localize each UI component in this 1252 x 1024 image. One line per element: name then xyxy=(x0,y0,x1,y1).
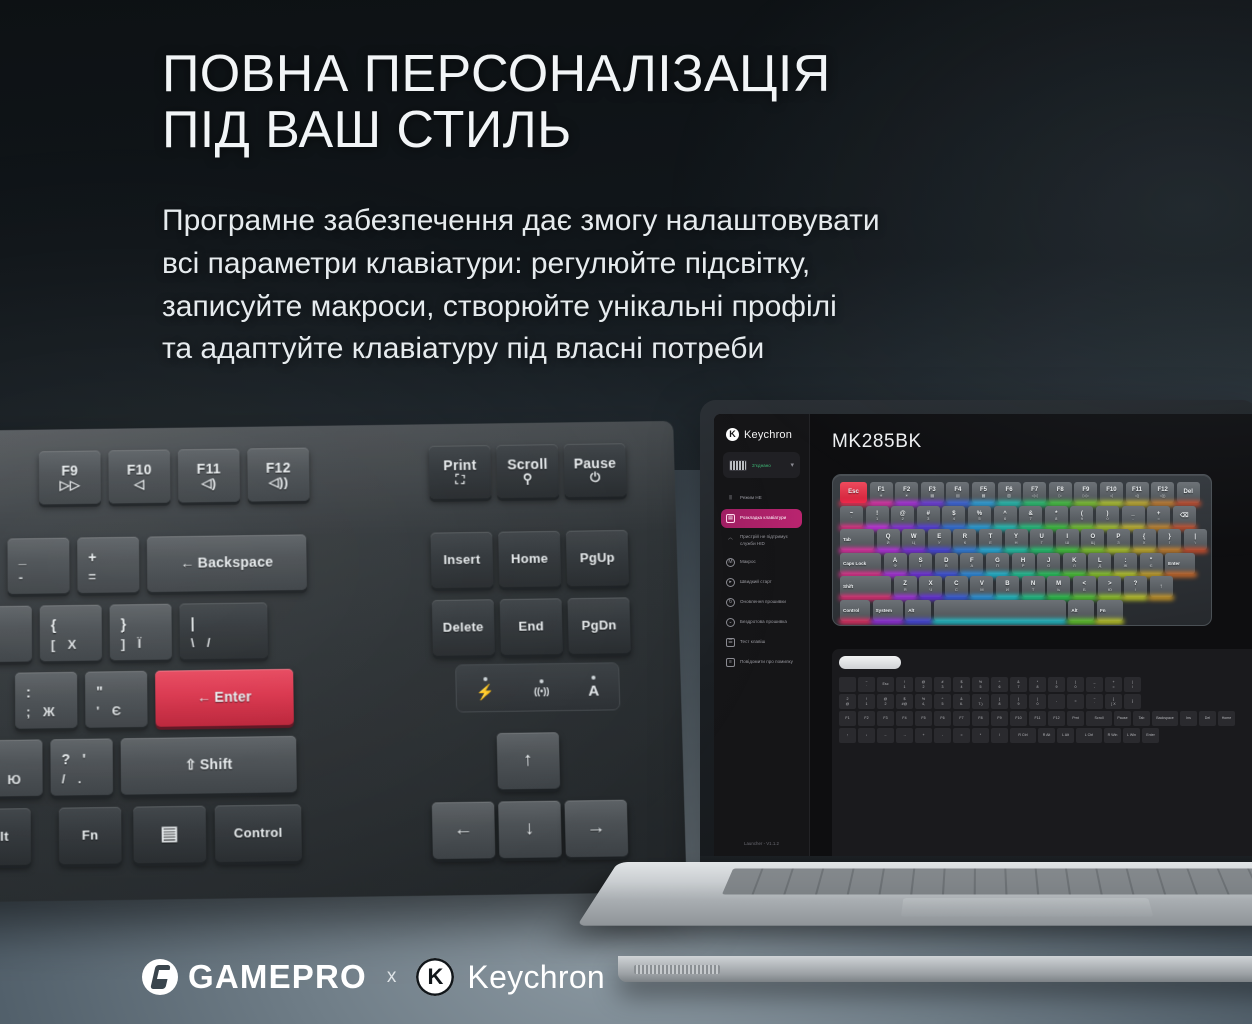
remap-key-label: L Ctrl xyxy=(1085,733,1093,737)
preview-key[interactable]: VМ xyxy=(970,576,993,597)
remap-key[interactable]: * xyxy=(972,728,989,743)
preview-key[interactable]: QЙ xyxy=(877,529,900,550)
remap-key-label: 0 xyxy=(1075,685,1077,689)
preview-key[interactable]: F5▩ xyxy=(972,482,995,503)
sidebar-item-label: Оновлення прошивки xyxy=(740,599,786,606)
remap-key-label: F3 xyxy=(883,716,887,720)
sidebar-item-label: Швидкий старт xyxy=(740,579,772,586)
remap-key-label: L Win xyxy=(1127,733,1136,737)
key-test-icon: ☰ xyxy=(726,638,735,647)
key-cyrillic-label: Ї xyxy=(137,637,141,652)
remap-key-label: Enter xyxy=(1146,733,1155,737)
remap-key[interactable]: L Win xyxy=(1123,728,1140,743)
firmware-update-icon: ↻ xyxy=(726,598,735,607)
remap-key[interactable]: - xyxy=(934,728,951,743)
preview-key[interactable]: XЧ xyxy=(919,576,942,597)
preview-key-sublabel: ▷ xyxy=(1059,494,1062,498)
remap-key[interactable]: ^5 xyxy=(934,694,951,709)
preview-key[interactable]: ?/ xyxy=(1124,576,1147,597)
preview-key[interactable]: NТ xyxy=(1022,576,1045,597)
remap-key-label: → xyxy=(903,733,907,737)
preview-key-sublabel: = xyxy=(1157,517,1159,521)
arrow-up-icon: ↑ xyxy=(523,750,533,772)
preview-key-sublabel: У xyxy=(938,541,941,545)
preview-key-sublabel: ▷▷ xyxy=(1083,494,1089,498)
sidebar-item-macro[interactable]: M Макрос xyxy=(721,553,802,572)
preview-key[interactable]: RК xyxy=(953,529,976,550)
remap-key[interactable]: Backspace xyxy=(1152,711,1178,726)
remap-key[interactable]: )9 xyxy=(1010,694,1027,709)
remap-key[interactable]: - xyxy=(1048,694,1065,709)
key-cyrillic-label: Х xyxy=(67,638,76,653)
gamepro-label: GAMEPRO xyxy=(188,958,367,996)
remap-key[interactable]: ^6 xyxy=(991,677,1008,692)
key-arrow-down: ↓ xyxy=(498,801,562,859)
remap-key[interactable]: F8 xyxy=(972,711,989,726)
remap-key-label: 4, xyxy=(922,702,925,706)
preview-key-sublabel: / xyxy=(1135,588,1136,592)
preview-key[interactable]: SІ xyxy=(909,553,932,574)
preview-key-sublabel: Щ xyxy=(1091,541,1095,545)
preview-key[interactable]: &7 xyxy=(1019,506,1042,527)
preview-key[interactable]: |\ xyxy=(1184,529,1207,550)
preview-key[interactable]: Alt xyxy=(1068,600,1094,621)
preview-key[interactable]: }Ї xyxy=(1158,529,1181,550)
app-brand: K Keychron xyxy=(714,428,809,452)
remap-key[interactable]: (9 xyxy=(1048,677,1065,692)
preview-key[interactable]: AФ xyxy=(884,553,907,574)
preview-key[interactable]: GП xyxy=(986,553,1009,574)
preview-key[interactable]: F1☀ xyxy=(870,482,893,503)
volume-down-icon: ◁) xyxy=(201,477,216,490)
preview-key-sublabel: Т xyxy=(1032,588,1034,592)
key-cyrillic-sublabel: . xyxy=(78,772,82,787)
remap-key-label: R Win xyxy=(1108,733,1118,737)
sidebar-item-keyboard-layout[interactable]: ▤ Розкладка клавіатури xyxy=(721,509,802,528)
preview-key[interactable]: F12◁)) xyxy=(1151,482,1174,503)
remap-key[interactable]: L Alt xyxy=(1057,728,1074,743)
app-sidebar: K Keychron З'єднано ▾ ⫼ Режим НЕ ▤ Розкл xyxy=(714,414,810,858)
key-period: > . Ю xyxy=(0,739,43,796)
remap-key[interactable]: %5 xyxy=(972,677,989,692)
remap-key[interactable]: Esc xyxy=(877,677,894,692)
remap-key[interactable]: ~` xyxy=(858,677,875,692)
preview-key[interactable]: F3▦ xyxy=(921,482,944,503)
remap-key[interactable]: _- xyxy=(1086,677,1103,692)
remap-key[interactable]: @2 xyxy=(915,677,932,692)
remap-key-label: Ins xyxy=(1186,716,1191,720)
preview-key[interactable]: PЗ xyxy=(1107,529,1130,550)
remap-key-label: F1 xyxy=(845,716,849,720)
preview-key[interactable]: YН xyxy=(1005,529,1028,550)
remap-key[interactable]: |0 xyxy=(1029,694,1046,709)
key-label: : xyxy=(26,686,31,702)
remap-key[interactable]: L Ctrl xyxy=(1076,728,1102,743)
preview-key[interactable]: OЩ xyxy=(1081,529,1104,550)
preview-key-label: Esc xyxy=(848,489,859,496)
remap-key-label: L Alt xyxy=(1062,733,1069,737)
preview-key[interactable]: *8 xyxy=(1045,506,1068,527)
remap-key-label: 0 xyxy=(1037,702,1039,706)
remap-key[interactable]: )0 xyxy=(1067,677,1084,692)
wireless-signal-icon: ((•)) xyxy=(534,687,549,696)
preview-key-sublabel: 2 xyxy=(902,517,904,521)
preview-key[interactable]: F2☀ xyxy=(895,482,918,503)
remap-key[interactable]: R Ctrl xyxy=(1010,728,1036,743)
preview-key[interactable]: F9▷▷ xyxy=(1074,482,1097,503)
remap-key[interactable]: / xyxy=(991,728,1008,743)
volume-up-icon: ◁)) xyxy=(269,476,289,489)
key-label: ? xyxy=(62,753,71,769)
preview-key[interactable]: :Ж xyxy=(1114,553,1137,574)
preview-key[interactable]: Del xyxy=(1177,482,1200,503)
preview-key[interactable]: F6▧ xyxy=(998,482,1021,503)
remap-row: 2@!1@2$#@%4,^5&6.*7.)(8)9|0-=~`{[ X} xyxy=(839,694,1252,709)
preview-key[interactable]: TЕ xyxy=(979,529,1002,550)
remap-key-label: @ xyxy=(846,702,850,706)
key-cyrillic-label: Ю xyxy=(7,773,21,788)
remap-key-label: = xyxy=(1074,699,1076,703)
key-label: Delete xyxy=(443,620,484,635)
laptop-lid: K Keychron З'єднано ▾ ⫼ Режим НЕ ▤ Розкл xyxy=(700,400,1252,880)
remap-key[interactable]: = xyxy=(953,728,970,743)
remap-key[interactable]: $#@ xyxy=(896,694,913,709)
preview-key[interactable]: KЛ xyxy=(1063,553,1086,574)
remap-key[interactable]: &7 xyxy=(1010,677,1027,692)
remap-key-grid: ~`Esc!1@2#3$4%5^6&7*8(9)0_-+=|\2@!1@2$#@… xyxy=(839,677,1252,743)
key-f10: F10 ◁ xyxy=(108,449,170,503)
preview-key-sublabel: ◁ xyxy=(1110,494,1113,498)
preview-key-row: ControlSystemAltAltFn xyxy=(840,600,1211,621)
remap-key[interactable]: R Win xyxy=(1104,728,1121,743)
remap-key-label: ↓ xyxy=(866,733,868,737)
preview-key[interactable]: LД xyxy=(1088,553,1111,574)
collab-separator: x xyxy=(387,966,397,988)
preview-key[interactable]: EУ xyxy=(928,529,951,550)
key-cyrillic-label: ' xyxy=(82,752,86,768)
preview-key[interactable]: Alt xyxy=(905,600,931,621)
key-label: Insert xyxy=(443,552,480,567)
preview-key[interactable]: Fn xyxy=(1097,600,1123,621)
remap-key-label: 4 xyxy=(961,685,963,689)
preview-key[interactable]: Control xyxy=(840,600,870,621)
sidebar-item-key-test[interactable]: ☰ Тест клавіш xyxy=(721,633,802,652)
remap-key-label: Home xyxy=(1222,716,1232,720)
remap-key[interactable]: $4 xyxy=(953,677,970,692)
remap-key[interactable]: F11 xyxy=(1029,711,1046,726)
remap-key[interactable]: F10 xyxy=(1010,711,1027,726)
preview-key[interactable]: FА xyxy=(960,553,983,574)
sidebar-item-hid-notice[interactable]: ◠ Пристрій не підтримує служби HID xyxy=(721,529,802,552)
remap-key-label: - xyxy=(942,733,943,737)
remap-key[interactable]: !1 xyxy=(858,694,875,709)
preview-key-sublabel: ☀ xyxy=(879,494,883,498)
keychron-label: Keychron xyxy=(467,959,605,996)
preview-key[interactable]: F8▷ xyxy=(1049,482,1072,503)
remap-key[interactable]: Prnt xyxy=(1067,711,1084,726)
remap-key[interactable]: #3 xyxy=(934,677,951,692)
media-next-icon: ▷▷ xyxy=(60,479,81,492)
remap-key[interactable]: |\ xyxy=(1124,677,1141,692)
remap-key[interactable]: F9 xyxy=(991,711,1008,726)
screenshot-icon: ⛶ xyxy=(455,473,465,486)
remap-key[interactable]: 2@ xyxy=(839,694,856,709)
remap-key[interactable]: Ins xyxy=(1180,711,1197,726)
sidebar-item-label: Повідомити про помилку xyxy=(740,659,793,666)
preview-key-label: Del xyxy=(1184,489,1193,496)
preview-key[interactable]: ⌫ xyxy=(1173,506,1196,527)
key-shift-right: ⇧ Shift xyxy=(121,736,297,795)
remap-key[interactable]: &6. xyxy=(953,694,970,709)
key-label: Print xyxy=(443,458,476,474)
key-delete: Delete xyxy=(432,599,495,656)
preview-key-label: Tab xyxy=(843,537,851,542)
key-arrow-right: → xyxy=(564,800,628,858)
preview-key-sublabel: Є xyxy=(1150,564,1153,568)
enter-arrow-icon: ← xyxy=(197,690,212,706)
key-sublabel: ] xyxy=(121,637,126,652)
preview-key[interactable]: {Х xyxy=(1133,529,1156,550)
remap-key[interactable]: F4 xyxy=(896,711,913,726)
preview-key[interactable]: %5 xyxy=(968,506,991,527)
preview-key[interactable]: )0 xyxy=(1096,506,1119,527)
volume-mute-icon: ◁ xyxy=(134,478,144,491)
remap-key-label: + xyxy=(922,733,924,737)
remap-key[interactable]: ↓ xyxy=(858,728,875,743)
remap-key-label: 2 xyxy=(885,702,887,706)
preview-key-sublabel: А xyxy=(971,564,974,568)
remap-key[interactable]: F1 xyxy=(839,711,856,726)
remap-key[interactable]: ← xyxy=(877,728,894,743)
remap-key-label: 9 xyxy=(1018,702,1020,706)
key-minus: _ - xyxy=(8,538,70,594)
preview-key[interactable]: HР xyxy=(1012,553,1035,574)
preview-key-sublabel: З xyxy=(1117,541,1119,545)
key-label: | xyxy=(191,617,195,633)
laptop-screen: K Keychron З'єднано ▾ ⫼ Режим НЕ ▤ Розкл xyxy=(714,414,1252,858)
remap-key-label: * xyxy=(980,733,981,737)
sidebar-item-label: Тест клавіш xyxy=(740,639,765,646)
remap-key[interactable]: ↑ xyxy=(839,728,856,743)
remap-key[interactable]: += xyxy=(1105,677,1122,692)
preview-key[interactable]: F4▤ xyxy=(946,482,969,503)
preview-key[interactable]: !1 xyxy=(866,506,889,527)
preview-key[interactable]: (9 xyxy=(1070,506,1093,527)
keychron-logo-icon: K xyxy=(726,428,739,441)
remap-key-label: ↑ xyxy=(847,733,849,737)
remap-key-label: Del xyxy=(1205,716,1210,720)
preview-key[interactable]: Shift xyxy=(840,576,891,597)
remap-key[interactable]: Del xyxy=(1199,711,1216,726)
preview-key-label: Enter xyxy=(1168,561,1180,566)
remap-key[interactable]: !1 xyxy=(896,677,913,692)
device-selector[interactable]: З'єднано ▾ xyxy=(723,452,800,478)
preview-key-sublabel: Г xyxy=(1041,541,1043,545)
remap-key[interactable]: + xyxy=(915,728,932,743)
preview-key[interactable]: F10◁ xyxy=(1100,482,1123,503)
remap-key[interactable]: Scroll xyxy=(1086,711,1112,726)
remap-key[interactable]: Home xyxy=(1218,711,1235,726)
preview-key[interactable]: DВ xyxy=(935,553,958,574)
remap-key-label: / xyxy=(999,733,1000,737)
remap-key[interactable]: *7.) xyxy=(972,694,989,709)
preview-key[interactable]: CС xyxy=(945,576,968,597)
remap-key[interactable]: @2 xyxy=(877,694,894,709)
speaker-grille-icon xyxy=(634,965,720,974)
sidebar-item-firmware-update[interactable]: ↻ Оновлення прошивки xyxy=(721,593,802,612)
preview-key-label: System xyxy=(876,608,892,613)
remap-key[interactable] xyxy=(839,677,856,692)
sidebar-item-report-bug[interactable]: ≡ Повідомити про помилку xyxy=(721,653,802,672)
brand-footer: GAMEPRO x K Keychron xyxy=(142,958,605,996)
remap-key[interactable]: F7 xyxy=(953,711,970,726)
key-cyrillic-label: / xyxy=(207,636,211,651)
key-home: Home xyxy=(498,531,561,587)
preview-key[interactable]: += xyxy=(1147,506,1170,527)
preview-key[interactable]: F11◁) xyxy=(1126,482,1149,503)
remap-key[interactable]: {[ X xyxy=(1105,694,1122,709)
preview-key[interactable]: $4 xyxy=(942,506,965,527)
preview-key-sublabel: П xyxy=(996,564,999,568)
remap-key-label: = xyxy=(960,733,962,737)
preview-key[interactable]: _- xyxy=(1122,506,1145,527)
laptop-device: K Keychron З'єднано ▾ ⫼ Режим НЕ ▤ Розкл xyxy=(700,400,1252,1000)
remap-key-label: Scroll xyxy=(1095,716,1104,720)
preview-key[interactable]: Esc xyxy=(840,482,867,503)
keyboard-preview[interactable]: EscF1☀F2☀F3▦F4▤F5▩F6▧F7◁◁F8▷F9▷▷F10◁F11◁… xyxy=(832,474,1212,626)
preview-key-row: TabQЙWЦEУRКTЕYНUГIШOЩPЗ{Х}Ї|\ xyxy=(840,529,1211,550)
key-f12: F12 ◁)) xyxy=(247,448,309,502)
key-pause: Pause ⏻ xyxy=(564,443,627,497)
remap-key-label: 6. xyxy=(960,702,963,706)
remap-key[interactable]: F12 xyxy=(1048,711,1065,726)
preview-key[interactable]: #3 xyxy=(917,506,940,527)
key-sublabel: ' xyxy=(96,705,100,720)
remap-key-label: [ X xyxy=(1111,702,1115,706)
remap-key[interactable]: R Alt xyxy=(1038,728,1055,743)
chevron-down-icon[interactable]: ▾ xyxy=(790,461,794,469)
key-remap-panel[interactable]: ~`Esc!1@2#3$4%5^6&7*8(9)0_-+=|\2@!1@2$#@… xyxy=(832,649,1252,858)
key-f9: F9 ▷▷ xyxy=(39,450,101,504)
preview-key-sublabel: Ч xyxy=(929,588,932,592)
remap-key[interactable]: F3 xyxy=(877,711,894,726)
key-label: + xyxy=(88,551,97,567)
preview-key[interactable]: System xyxy=(873,600,903,621)
remap-key[interactable]: (8 xyxy=(991,694,1008,709)
preview-key[interactable]: JО xyxy=(1037,553,1060,574)
preview-key[interactable]: @2 xyxy=(891,506,914,527)
preview-key[interactable]: UГ xyxy=(1030,529,1053,550)
remap-key[interactable]: ~` xyxy=(1086,694,1103,709)
preview-key[interactable]: IШ xyxy=(1056,529,1079,550)
preview-key-label: Control xyxy=(843,608,859,613)
remap-key-label: ` xyxy=(866,685,867,689)
preview-key-sublabel: ◁) xyxy=(1135,494,1139,498)
preview-key[interactable]: Enter xyxy=(1165,553,1195,574)
remap-key-label: = xyxy=(1112,685,1114,689)
preview-key[interactable]: <Б xyxy=(1073,576,1096,597)
preview-key[interactable]: ^6 xyxy=(994,506,1017,527)
preview-key-label: Caps Lock xyxy=(843,561,866,566)
app-brand-label: Keychron xyxy=(744,429,792,441)
preview-key-sublabel: ☀ xyxy=(905,494,909,498)
key-label: PgUp xyxy=(580,551,615,566)
remap-key-label: 1 xyxy=(866,702,868,706)
microphone-icon: ⚲ xyxy=(523,472,533,485)
preview-key-sublabel: И xyxy=(1006,588,1009,592)
preview-key-sublabel: Ф xyxy=(894,564,897,568)
remap-key-label: 1 xyxy=(904,685,906,689)
key-control-right: Control xyxy=(215,804,302,862)
sidebar-item-wireless-firmware[interactable]: ⌄ Бездротова прошивка xyxy=(721,613,802,632)
left-arrow-icon: ← xyxy=(180,556,194,572)
remap-key[interactable]: → xyxy=(896,728,913,743)
charging-bolt-icon: ⚡ xyxy=(476,684,495,699)
sidebar-item-he-mode[interactable]: ⫼ Режим НЕ xyxy=(721,489,802,508)
preview-key-row: ShiftZЯXЧCСVМBИNТMЬ<Б>Ю?/↑ xyxy=(840,576,1211,597)
remap-key[interactable]: %4, xyxy=(915,694,932,709)
remap-key[interactable]: F2 xyxy=(858,711,875,726)
remap-key[interactable]: F6 xyxy=(934,711,951,726)
key-label: { xyxy=(51,619,57,635)
preview-key[interactable]: >Ю xyxy=(1098,576,1121,597)
remap-key-label: 7 xyxy=(1018,685,1020,689)
arrow-right-icon: → xyxy=(586,818,606,840)
preview-key[interactable]: Tab xyxy=(840,529,874,550)
remap-key-label: Backspace xyxy=(1156,716,1174,720)
preview-key-label: ⌫ xyxy=(1180,513,1188,520)
preview-key-sublabel: І xyxy=(920,564,921,568)
preview-key-sublabel: Р xyxy=(1022,564,1025,568)
remap-key[interactable]: F5 xyxy=(915,711,932,726)
preview-key-sublabel: С xyxy=(955,588,958,592)
preview-key[interactable]: "Є xyxy=(1140,553,1163,574)
preview-key-sublabel: Х xyxy=(1143,541,1146,545)
remap-key[interactable]: *8 xyxy=(1029,677,1046,692)
remap-key-label: 3 xyxy=(942,685,944,689)
preview-key[interactable]: Caps Lock xyxy=(840,553,881,574)
preview-key[interactable]: ZЯ xyxy=(894,576,917,597)
sidebar-item-label: Пристрій не підтримує служби HID xyxy=(740,534,797,547)
sidebar-item-label: Режим НЕ xyxy=(740,495,762,502)
preview-key-row: ~`!1@2#3$4%5^6&7*8(9)0_-+=⌫ xyxy=(840,506,1211,527)
preview-key-sublabel: В xyxy=(945,564,948,568)
preview-key[interactable]: BИ xyxy=(996,576,1019,597)
remap-key[interactable]: Tab xyxy=(1133,711,1150,726)
preview-key-label: Alt xyxy=(1071,608,1077,613)
remap-key[interactable]: = xyxy=(1067,694,1084,709)
key-sublabel: \ xyxy=(191,636,195,651)
preview-key[interactable]: ~` xyxy=(840,506,863,527)
remap-tab-pill[interactable] xyxy=(839,656,901,669)
key-label: _ xyxy=(19,552,27,568)
remap-key[interactable]: } xyxy=(1124,694,1141,709)
key-backslash: | \ / xyxy=(179,602,268,659)
preview-key[interactable]: WЦ xyxy=(902,529,925,550)
remap-key[interactable]: Enter xyxy=(1142,728,1159,743)
page-title: MK285BK xyxy=(832,431,1252,453)
remap-key-label: 9 xyxy=(1056,685,1058,689)
remap-key-label: \ xyxy=(1132,685,1133,689)
preview-key[interactable] xyxy=(934,600,1066,621)
preview-key-row: Caps LockAФSІDВFАGПHРJОKЛLД:Ж"ЄEnter xyxy=(840,553,1211,574)
sidebar-item-quick-start[interactable]: ▸ Швидкий старт xyxy=(721,573,802,592)
preview-key[interactable]: F7◁◁ xyxy=(1023,482,1046,503)
preview-key[interactable]: MЬ xyxy=(1047,576,1070,597)
remap-key[interactable]: Pause xyxy=(1114,711,1131,726)
preview-key-sublabel: 9 xyxy=(1081,517,1083,521)
preview-key[interactable]: ↑ xyxy=(1150,576,1173,597)
